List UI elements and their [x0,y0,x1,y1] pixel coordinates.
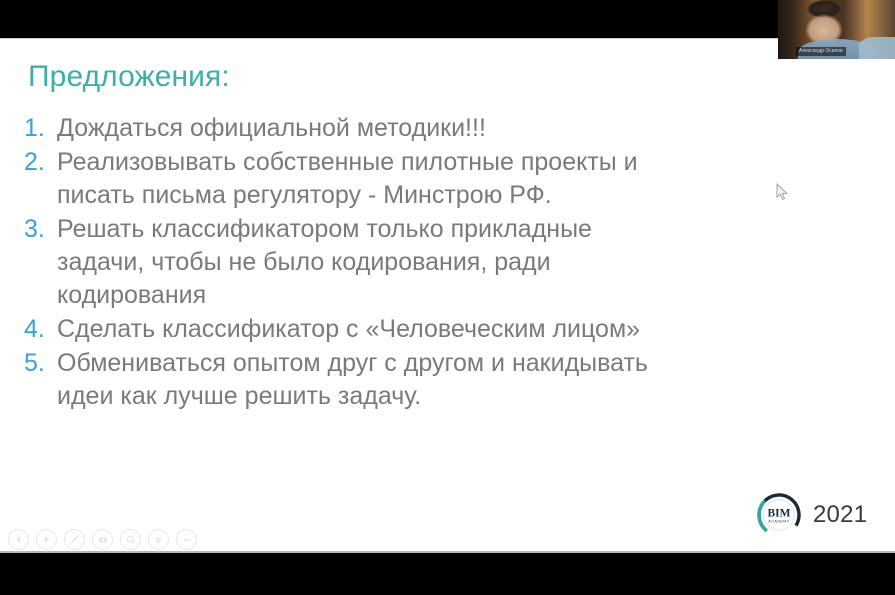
letterbox-top [0,0,895,38]
list-item: 1. Дождаться официальной методики!!! [24,112,814,145]
pen-annotate-icon[interactable] [64,529,85,550]
list-item: 2. Реализовывать собственные пилотные пр… [24,146,814,212]
slide-footer: BIM ACADEMY 2021 [755,491,867,539]
list-item-number: 1. [24,112,57,145]
list-item-text: Сделать классификатор с «Человеческим ли… [57,313,814,346]
slide-bottom-edge [0,551,895,553]
webcam-thumbnail[interactable]: Александр Осипов [778,0,895,59]
bim-academy-logo-icon: BIM ACADEMY [755,491,803,539]
camera-icon[interactable] [92,529,113,550]
list-item-text: Дождаться официальной методики!!! [57,112,814,145]
screen-share-view: Предложения: 1. Дождаться официальной ме… [0,0,895,595]
slide-year: 2021 [813,501,867,529]
magnifier-icon[interactable] [120,529,141,550]
list-item-number: 4. [24,313,57,346]
svg-text:ACADEMY: ACADEMY [768,520,789,524]
proposals-list: 1. Дождаться официальной методики!!! 2. … [24,112,814,414]
presentation-slide: Предложения: 1. Дождаться официальной ме… [0,39,895,551]
list-item-number: 3. [24,213,57,246]
slide-top-edge [0,38,895,39]
page-title: Предложения: [28,60,230,94]
list-item-text: Решать классификатором только прикладные… [57,213,814,312]
list-menu-icon[interactable] [148,529,169,550]
list-item: 4. Сделать классификатор с «Человеческим… [24,313,814,346]
presentation-toolbar[interactable] [8,529,197,550]
list-item-number: 2. [24,146,57,179]
webcam-participant-name: Александр Осипов [796,47,846,56]
list-item: 3. Решать классификатором только приклад… [24,213,814,312]
list-item-number: 5. [24,347,57,380]
list-item-text: Обмениваться опытом друг с другом и наки… [57,347,814,413]
minus-icon[interactable] [176,529,197,550]
list-item-text: Реализовывать собственные пилотные проек… [57,146,814,212]
webcam-participant-shoulder [859,37,895,59]
previous-slide-icon[interactable] [8,529,29,550]
play-slide-icon[interactable] [36,529,57,550]
letterbox-bottom [0,553,895,595]
svg-text:BIM: BIM [768,507,791,519]
list-item: 5. Обмениваться опытом друг с другом и н… [24,347,814,413]
